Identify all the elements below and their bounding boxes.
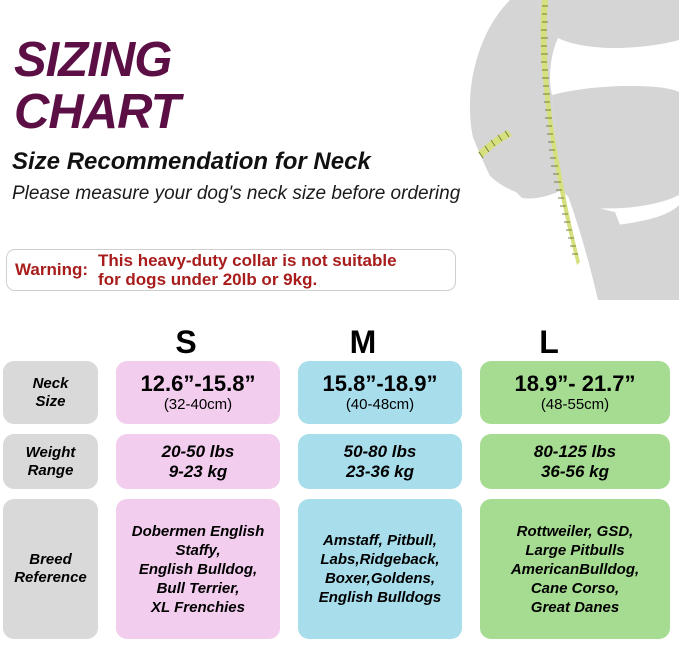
size-table: S M L Neck Size 12.6”-15.8” (32-40cm) 15… bbox=[0, 325, 679, 649]
neck-size-s-cm: (32-40cm) bbox=[164, 396, 232, 414]
breed-line: Dobermen English bbox=[132, 522, 265, 541]
table-row-weight-range: Weight Range 20-50 lbs 9-23 kg 50-80 lbs… bbox=[0, 434, 679, 489]
neck-size-m-cm: (40-48cm) bbox=[346, 396, 414, 414]
warning-label: Warning: bbox=[15, 260, 98, 280]
breed-line: Large Pitbulls bbox=[511, 541, 639, 560]
neck-size-l-cm: (48-55cm) bbox=[541, 396, 609, 414]
subtitle: Size Recommendation for Neck bbox=[12, 148, 470, 176]
weight-s-kg: 9-23 kg bbox=[169, 462, 228, 482]
title-line-2: CHART bbox=[14, 86, 470, 138]
breed-line: AmericanBulldog, bbox=[511, 560, 639, 579]
cell-gap bbox=[280, 361, 298, 424]
header-block: SIZING CHART Size Recommendation for Nec… bbox=[0, 0, 470, 205]
title-line-1: SIZING bbox=[14, 34, 470, 86]
row-label-weight-range: Weight Range bbox=[3, 434, 98, 489]
warning-box: Warning: This heavy-duty collar is not s… bbox=[6, 249, 456, 291]
page-title: SIZING CHART bbox=[0, 0, 470, 138]
row-label-line-1: Weight bbox=[26, 444, 76, 462]
size-header-s: S bbox=[175, 325, 196, 359]
row-label-line-1: Neck bbox=[33, 375, 69, 393]
cell-gap bbox=[98, 499, 116, 639]
cell-breed-s: Dobermen English Staffy, English Bulldog… bbox=[116, 499, 280, 639]
breed-line: Boxer,Goldens, bbox=[319, 569, 442, 588]
row-label-breed-reference: Breed Reference bbox=[3, 499, 98, 639]
cell-gap bbox=[98, 434, 116, 489]
breed-l-list: Rottweiler, GSD, Large Pitbulls American… bbox=[506, 522, 644, 617]
breed-line: English Bulldogs bbox=[319, 588, 442, 607]
row-label-line-2: Range bbox=[28, 462, 74, 480]
weight-s-lbs: 20-50 lbs bbox=[162, 442, 235, 462]
cell-gap bbox=[462, 499, 480, 639]
cell-weight-l: 80-125 lbs 36-56 kg bbox=[480, 434, 670, 489]
cell-breed-m: Amstaff, Pitbull, Labs,Ridgeback, Boxer,… bbox=[298, 499, 462, 639]
table-row-breed-reference: Breed Reference Dobermen English Staffy,… bbox=[0, 499, 679, 639]
weight-m-kg: 23-36 kg bbox=[346, 462, 414, 482]
size-header-row: S M L bbox=[0, 325, 679, 361]
sizing-chart-page: SIZING CHART Size Recommendation for Nec… bbox=[0, 0, 679, 672]
row-label-line-1: Breed bbox=[29, 551, 72, 569]
measure-note: Please measure your dog's neck size befo… bbox=[12, 183, 470, 205]
breed-line: Staffy, bbox=[132, 541, 265, 560]
cell-gap bbox=[462, 434, 480, 489]
breed-s-list: Dobermen English Staffy, English Bulldog… bbox=[127, 522, 270, 617]
neck-size-l-inches: 18.9”- 21.7” bbox=[514, 371, 635, 396]
breed-line: Bull Terrier, bbox=[132, 579, 265, 598]
cell-gap bbox=[280, 434, 298, 489]
row-label-line-2: Size bbox=[35, 393, 65, 411]
breed-m-list: Amstaff, Pitbull, Labs,Ridgeback, Boxer,… bbox=[314, 531, 447, 607]
breed-line: Labs,Ridgeback, bbox=[319, 550, 442, 569]
breed-line: Amstaff, Pitbull, bbox=[319, 531, 442, 550]
cell-gap bbox=[280, 499, 298, 639]
cell-weight-m: 50-80 lbs 23-36 kg bbox=[298, 434, 462, 489]
breed-line: Great Danes bbox=[511, 598, 639, 617]
warning-text-line-2: for dogs under 20lb or 9kg. bbox=[98, 270, 397, 289]
neck-size-m-inches: 15.8”-18.9” bbox=[323, 371, 438, 396]
cell-gap bbox=[98, 361, 116, 424]
warning-text-line-1: This heavy-duty collar is not suitable bbox=[98, 251, 397, 270]
cell-gap bbox=[462, 361, 480, 424]
neck-size-s-inches: 12.6”-15.8” bbox=[141, 371, 256, 396]
table-row-neck-size: Neck Size 12.6”-15.8” (32-40cm) 15.8”-18… bbox=[0, 361, 679, 424]
cell-breed-l: Rottweiler, GSD, Large Pitbulls American… bbox=[480, 499, 670, 639]
cell-weight-s: 20-50 lbs 9-23 kg bbox=[116, 434, 280, 489]
breed-line: English Bulldog, bbox=[132, 560, 265, 579]
size-header-m: M bbox=[350, 325, 377, 359]
weight-l-kg: 36-56 kg bbox=[541, 462, 609, 482]
weight-m-lbs: 50-80 lbs bbox=[344, 442, 417, 462]
warning-text: This heavy-duty collar is not suitable f… bbox=[98, 251, 397, 289]
breed-line: Rottweiler, GSD, bbox=[511, 522, 639, 541]
row-label-line-2: Reference bbox=[14, 569, 87, 587]
row-label-neck-size: Neck Size bbox=[3, 361, 98, 424]
weight-l-lbs: 80-125 lbs bbox=[534, 442, 616, 462]
breed-line: XL Frenchies bbox=[132, 598, 265, 617]
size-header-l: L bbox=[539, 325, 559, 359]
cell-neck-size-l: 18.9”- 21.7” (48-55cm) bbox=[480, 361, 670, 424]
cell-neck-size-s: 12.6”-15.8” (32-40cm) bbox=[116, 361, 280, 424]
breed-line: Cane Corso, bbox=[511, 579, 639, 598]
cell-neck-size-m: 15.8”-18.9” (40-48cm) bbox=[298, 361, 462, 424]
